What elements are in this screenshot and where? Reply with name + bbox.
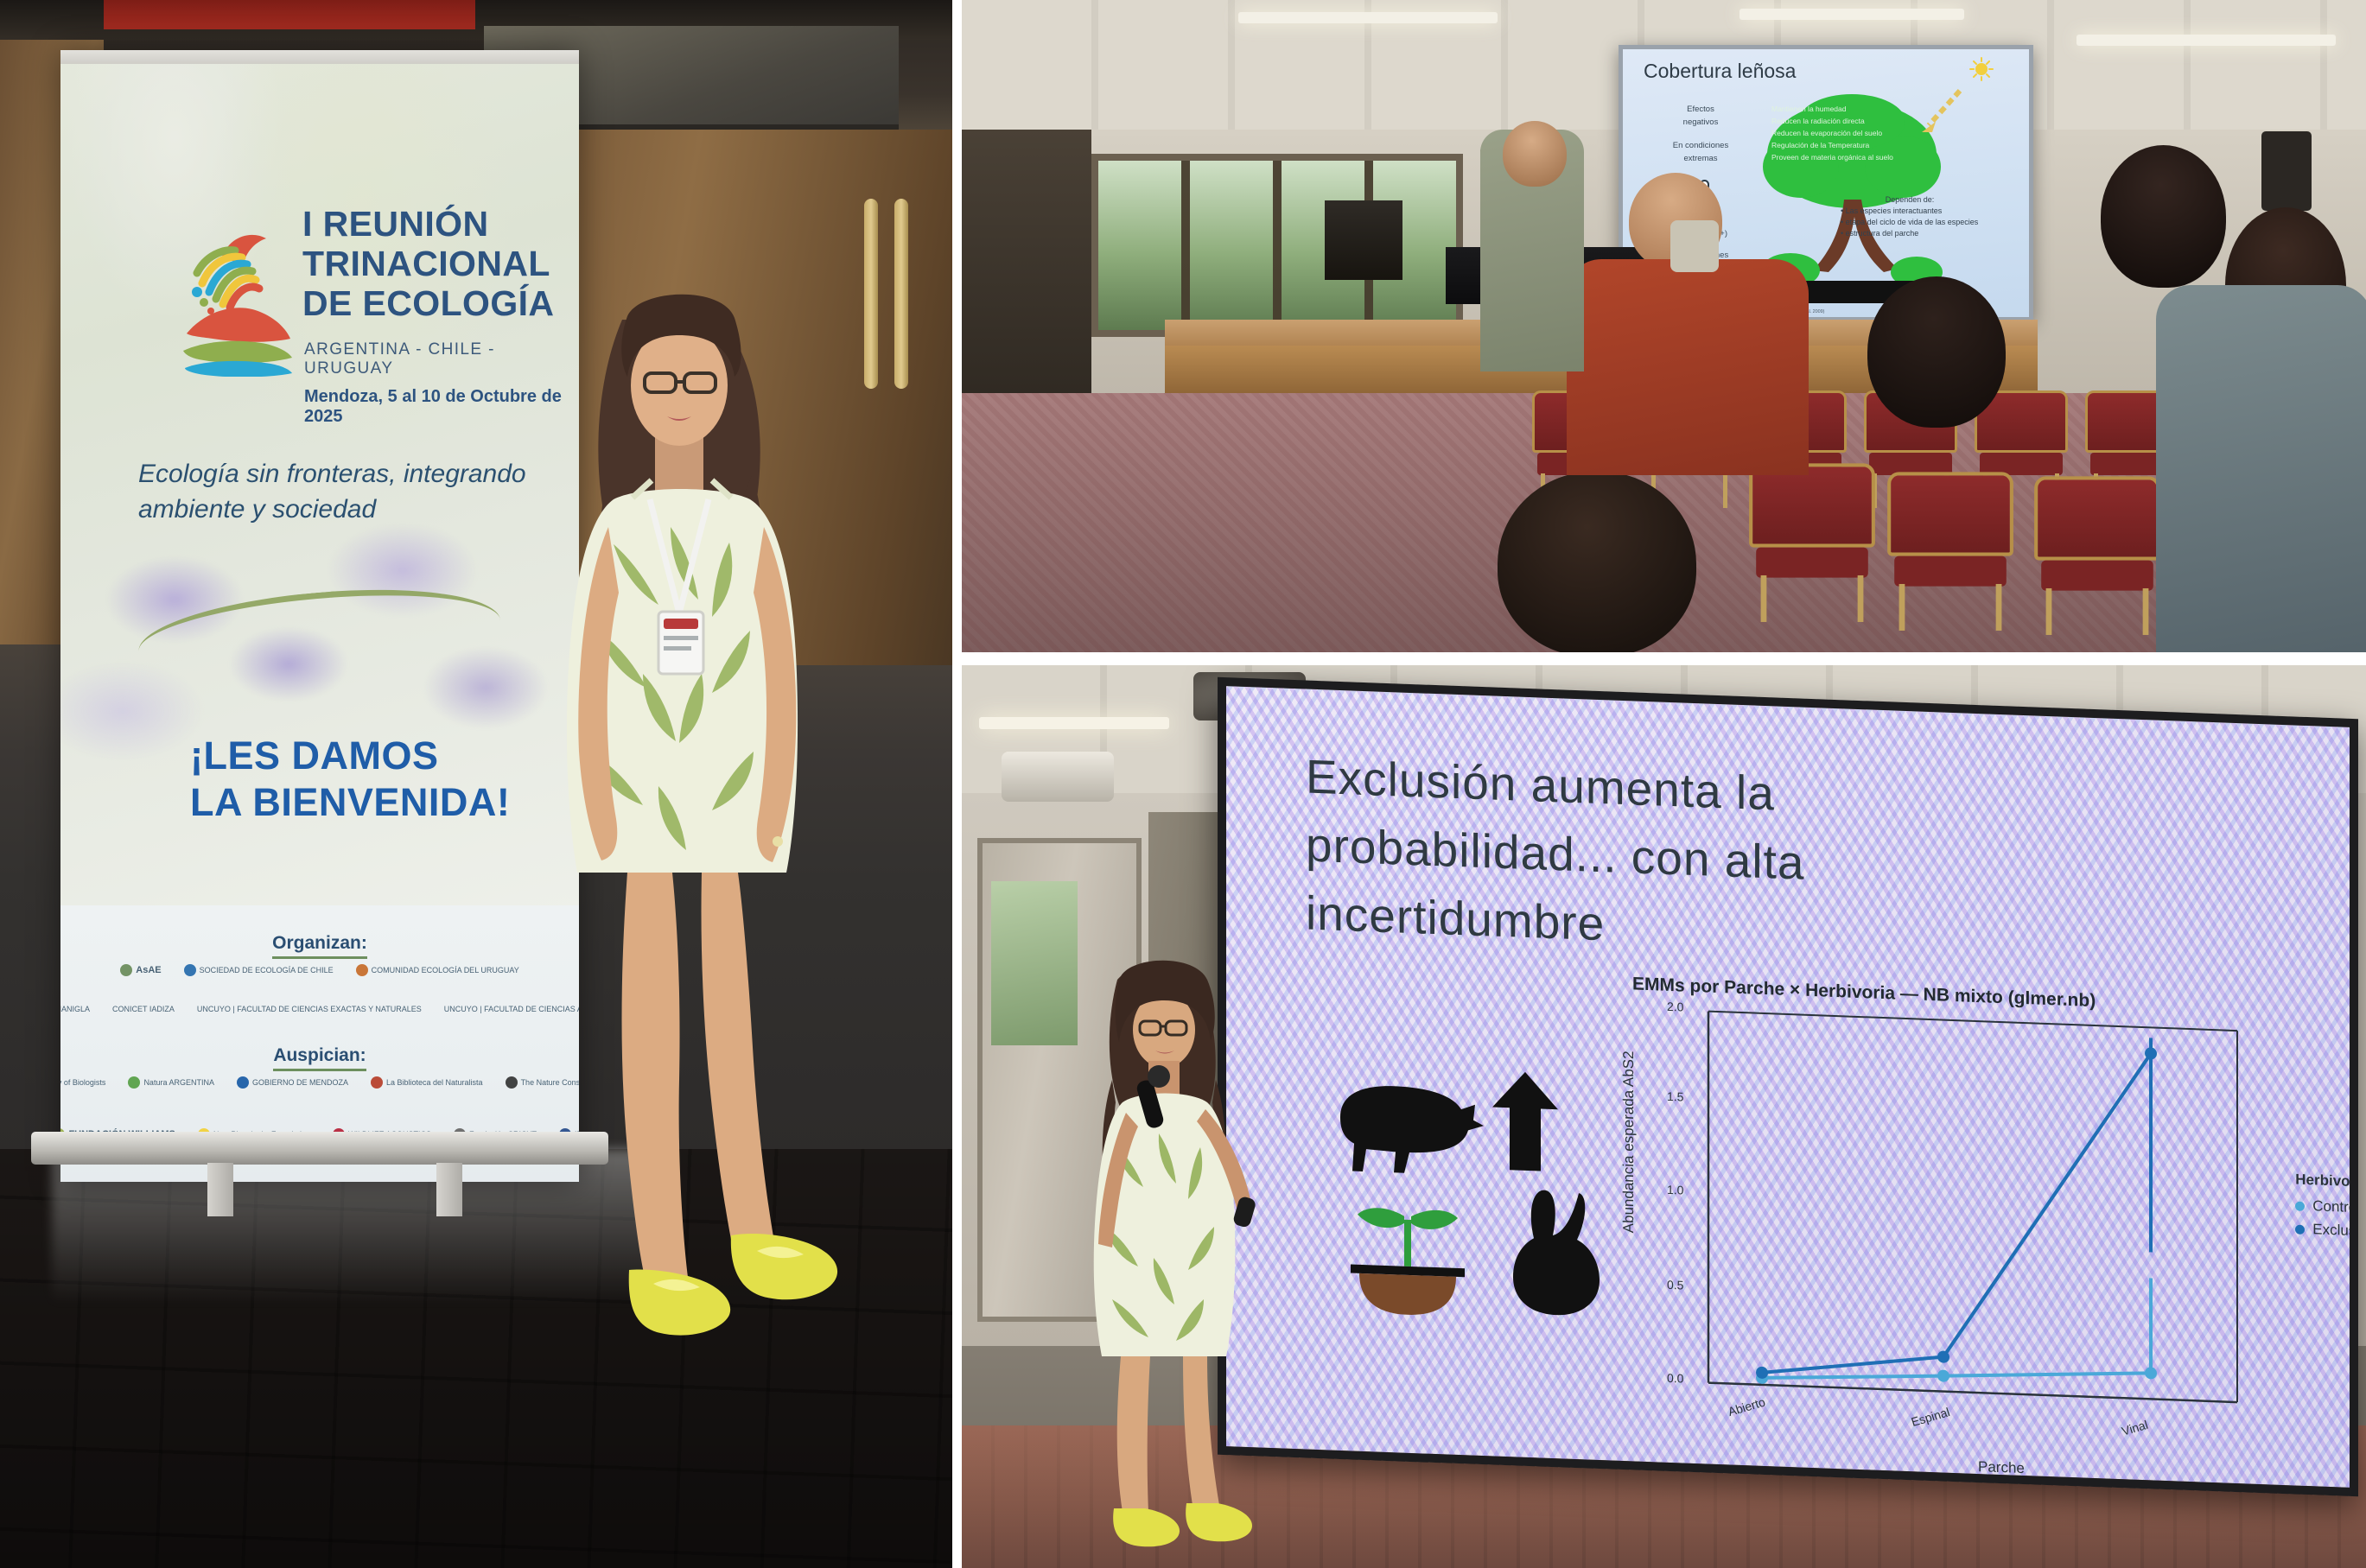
photo-collage: I REUNIÓN TRINACIONAL DE ECOLOGÍA ARGENT…: [0, 0, 2366, 1568]
speaker-with-microphone: [1059, 950, 1275, 1555]
herbivory-icons: [1321, 1052, 1606, 1322]
rollup-banner: I REUNIÓN TRINACIONAL DE ECOLOGÍA ARGENT…: [60, 50, 579, 1182]
top-right-photo: Cobertura leñosa Efectos negativos En co…: [962, 0, 2366, 652]
logo-biblioteca-naturalista: La Biblioteca del Naturalista: [371, 1076, 483, 1089]
sponsor-logos-row-1: The Company of Biologists Natura ARGENTI…: [60, 1076, 579, 1089]
radiation-arrow-icon: [1917, 87, 1965, 136]
auditorium-chair: [2034, 476, 2160, 633]
wall-speaker-right: [2261, 131, 2312, 211]
slide-woody-left-column: Efectos negativos En condiciones extrema…: [1649, 103, 1752, 165]
logo-socecol-chile: SOCIEDAD DE ECOLOGÍA DE CHILE: [184, 964, 334, 976]
logo-uncuyo-exactas: UNCUYO | FACULTAD DE CIENCIAS EXACTAS Y …: [197, 1005, 422, 1013]
banner-welcome: ¡LES DAMOS LA BIENVENIDA!: [190, 733, 562, 826]
collage-divider-vertical: [952, 0, 962, 1568]
logo-iadiza: CONICET IADIZA: [112, 1005, 175, 1013]
banner-welcome-line-2: LA BIENVENIDA!: [190, 779, 562, 826]
ceiling-lamp-3: [2077, 35, 2336, 46]
up-arrow-icon: [1492, 1070, 1558, 1171]
auditorium-dark-wall: [962, 130, 1091, 415]
projection-screen-exclusion: Exclusión aumenta la probabilidad... con…: [1218, 677, 2358, 1496]
audience-person-gray: [2156, 285, 2366, 652]
logo-natura-argentina: Natura ARGENTINA: [128, 1076, 214, 1089]
slide-woody-title: Cobertura leñosa: [1644, 60, 1796, 83]
conference-logo-icon: [183, 213, 294, 377]
auditorium-chair: [1887, 472, 2013, 629]
sun-icon: [1968, 56, 1994, 82]
rabbit-silhouette-icon: [1513, 1189, 1600, 1317]
ceiling-lamp-1: [1238, 12, 1498, 23]
red-wall-stripe: [104, 0, 475, 29]
slide-exclusion-title: Exclusión aumenta la probabilidad... con…: [1306, 743, 2049, 975]
ceiling-projector: [1002, 752, 1114, 802]
auditorium-chair: [1749, 463, 1875, 620]
logo-comunidad-ecologia-uruguay: COMUNIDAD ECOLOGÍA DEL URUGUAY: [356, 964, 519, 976]
banner-welcome-line-1: ¡LES DAMOS: [190, 733, 562, 779]
organizer-logos-row-2: CONICET IANIGLA CONICET IADIZA UNCUYO | …: [60, 1005, 579, 1013]
organizer-logos-row-1: AsAE SOCIEDAD DE ECOLOGÍA DE CHILE COMUN…: [60, 964, 579, 976]
exclusion-chart: [1632, 974, 2341, 1483]
logo-gobierno-mendoza: GOBIERNO DE MENDOZA: [237, 1076, 348, 1089]
ceiling-lamp: [979, 717, 1169, 729]
left-photo: I REUNIÓN TRINACIONAL DE ECOLOGÍA ARGENT…: [0, 0, 952, 1568]
banner-leg-right: [436, 1163, 462, 1216]
cow-silhouette-icon: [1340, 1084, 1484, 1176]
banner-leg-left: [207, 1163, 233, 1216]
banner-tagline-line-1: Ecología sin fronteras, integrando: [138, 456, 544, 492]
audience-head-3: [2101, 145, 2226, 288]
logo-company-of-biologists: The Company of Biologists: [60, 1076, 105, 1089]
logo-asae: AsAE: [120, 964, 161, 976]
slide-woody-canopy-benefits: Mantienen la humedad Reducen la radiació…: [1771, 103, 2031, 163]
slide-woody-dependencies: Dependen de: • Las especies interactuant…: [1841, 194, 1979, 239]
person-standing-portrait: [518, 268, 890, 1382]
auditorium-windows: [1091, 154, 1463, 337]
banner-top-cap: [60, 50, 579, 64]
bottom-right-photo: Exclusión aumenta la probabilidad... con…: [962, 665, 2366, 1568]
handheld-device: [1670, 220, 1719, 272]
logo-ianigla: CONICET IANIGLA: [60, 1005, 90, 1013]
audience-head: [1498, 471, 1696, 652]
banner-title-line-1: I REUNIÓN: [302, 204, 570, 244]
audience-person-red-shirt: [1567, 259, 1809, 475]
collage-divider-horizontal: [952, 652, 2366, 665]
lectern: [1325, 200, 1402, 280]
banner-tagline: Ecología sin fronteras, integrando ambie…: [138, 456, 544, 527]
organizers-heading: Organizan:: [60, 933, 579, 954]
seedling-in-pot-icon: [1351, 1207, 1465, 1317]
audience-head-2: [1503, 121, 1567, 187]
audience-head-4: [1867, 276, 2006, 428]
banner-tagline-line-2: ambiente y sociedad: [138, 492, 544, 527]
ceiling-lamp-2: [1740, 9, 1964, 20]
door-handle-bar-2: [894, 199, 908, 389]
sponsors-heading: Auspician:: [60, 1045, 579, 1066]
